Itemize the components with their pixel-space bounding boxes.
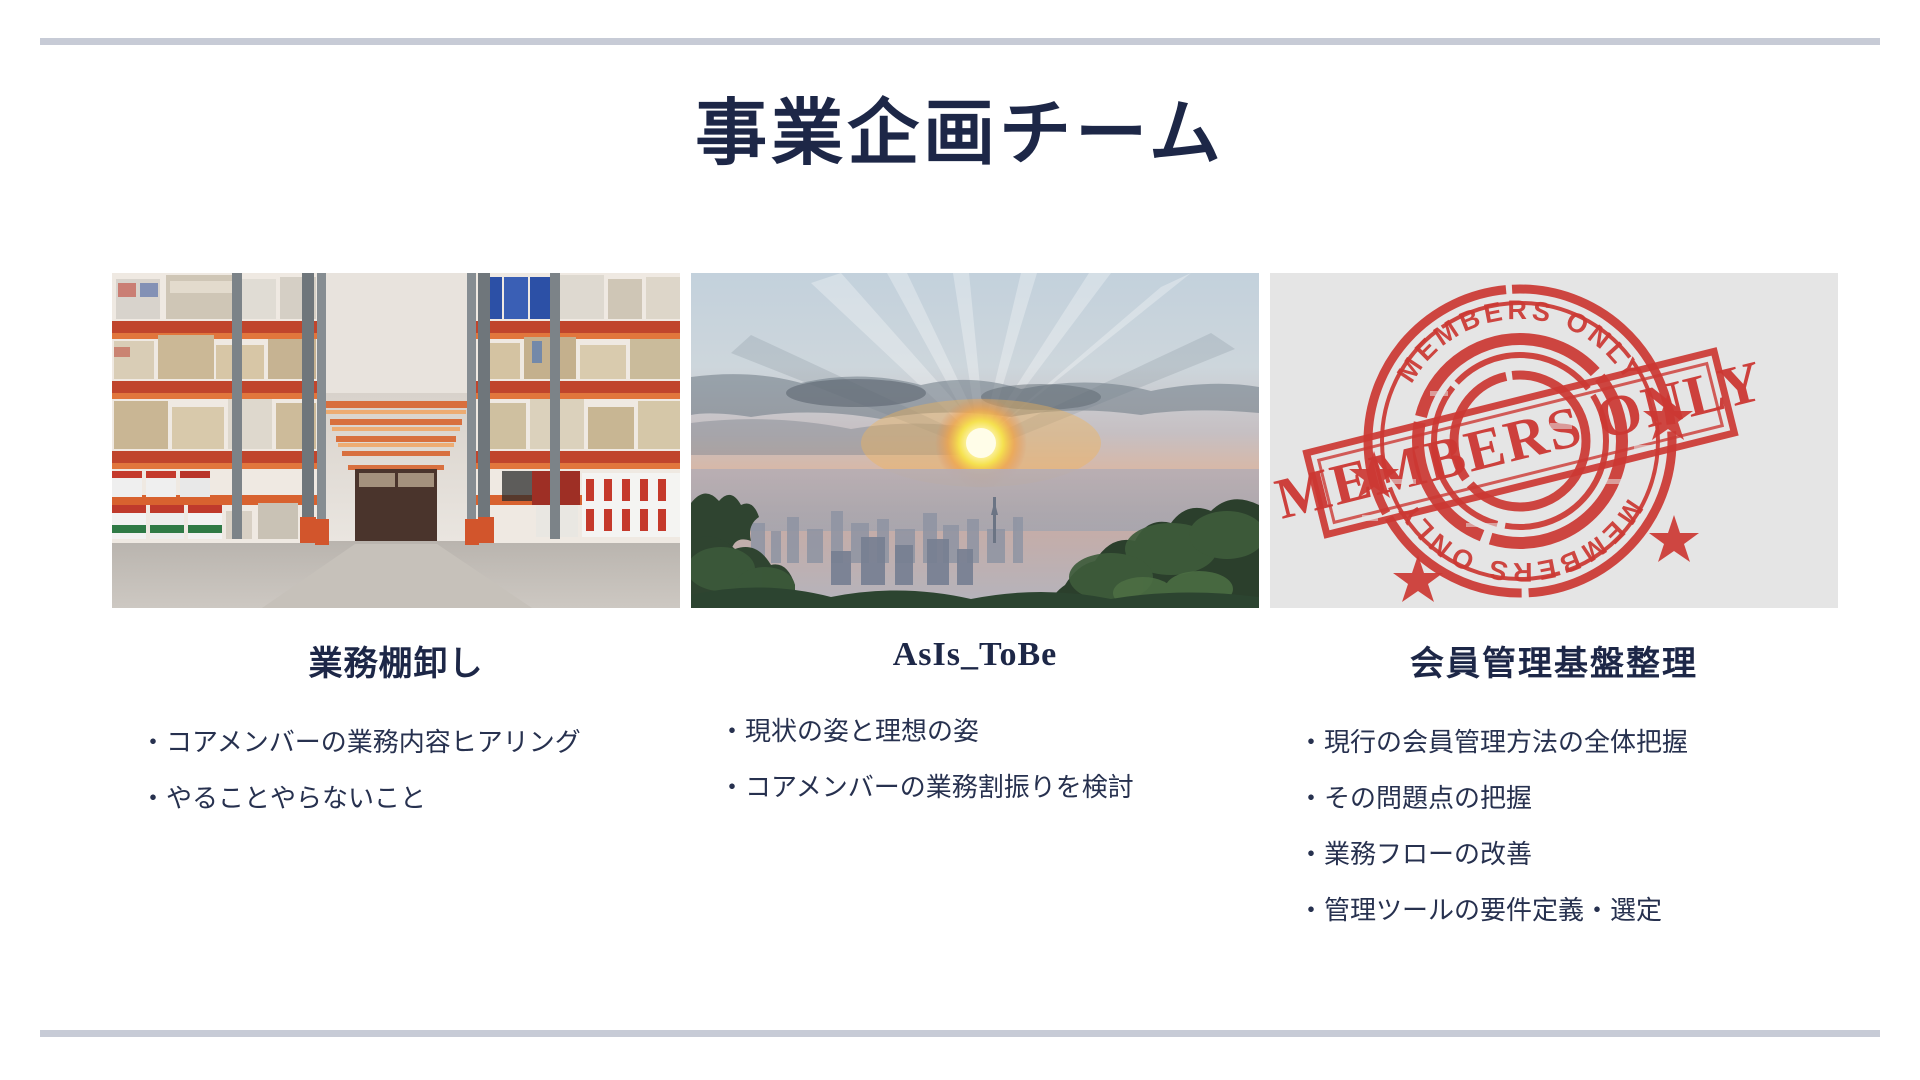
columns-container: 業務棚卸し ・コアメンバーの業務内容ヒアリング ・やることやらないこと (112, 273, 1838, 953)
slide-canvas: 事業企画チーム (0, 0, 1920, 1080)
slide-title: 事業企画チーム (0, 95, 1920, 174)
list-item: ・管理ツールの要件定義・選定 (1298, 897, 1838, 923)
column-bullet-list: ・現状の姿と理想の姿 ・コアメンバーの業務割振りを検討 (691, 718, 1259, 800)
list-item: ・その問題点の把握 (1298, 785, 1838, 811)
members-only-stamp-image: MEMBERS ONLY MEMBERS ONLY (1270, 273, 1838, 608)
list-item: ・業務フローの改善 (1298, 841, 1838, 867)
bottom-divider-rule (40, 1030, 1880, 1037)
column-heading: AsIs_ToBe (691, 636, 1259, 674)
column-bullet-list: ・現行の会員管理方法の全体把握 ・その問題点の把握 ・業務フローの改善 ・管理ツ… (1270, 729, 1838, 923)
list-item: ・コアメンバーの業務内容ヒアリング (140, 729, 680, 755)
warehouse-racking-photo (112, 273, 680, 608)
list-item: ・現行の会員管理方法の全体把握 (1298, 729, 1838, 755)
sunrise-cityscape-photo (691, 273, 1259, 608)
column-kaiin-kanri: MEMBERS ONLY MEMBERS ONLY (1270, 273, 1838, 953)
list-item: ・コアメンバーの業務割振りを検討 (719, 774, 1259, 800)
top-divider-rule (40, 38, 1880, 45)
column-gyomu-tanaoroshi: 業務棚卸し ・コアメンバーの業務内容ヒアリング ・やることやらないこと (112, 273, 680, 953)
list-item: ・現状の姿と理想の姿 (719, 718, 1259, 744)
column-heading: 会員管理基盤整理 (1270, 636, 1838, 685)
list-item: ・やることやらないこと (140, 785, 680, 811)
column-asis-tobe: AsIs_ToBe ・現状の姿と理想の姿 ・コアメンバーの業務割振りを検討 (691, 273, 1259, 953)
column-heading: 業務棚卸し (112, 636, 680, 685)
column-bullet-list: ・コアメンバーの業務内容ヒアリング ・やることやらないこと (112, 729, 680, 811)
